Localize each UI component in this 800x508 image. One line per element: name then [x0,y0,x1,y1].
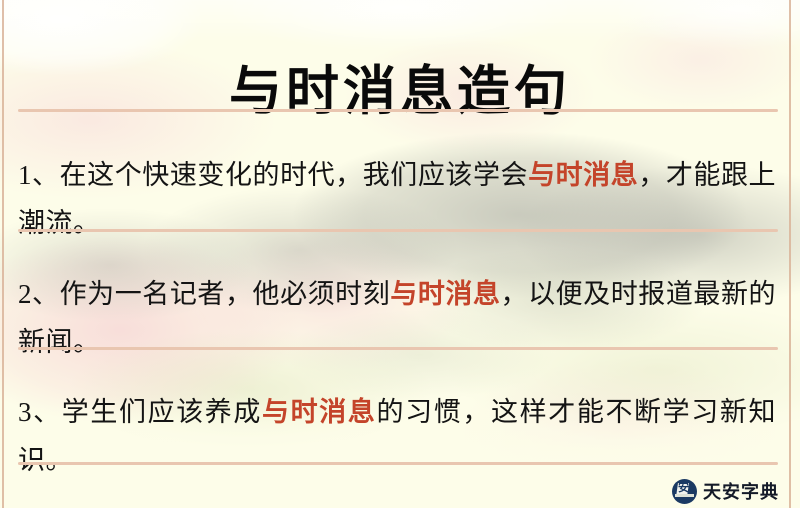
sentence-1-index: 1、 [18,160,60,190]
sentence-1-idiom: 与时消息 [528,160,638,190]
sentence-1-text-before: 在这个快速变化的时代，我们应该学会 [60,160,528,190]
example-sentence-2: 2、作为一名记者，他必须时刻与时消息，以便及时报道最新的新闻。 [18,270,776,366]
brand-watermark: 安 天安字典 [672,478,779,504]
sentence-2-idiom: 与时消息 [390,279,500,309]
sentence-3-idiom: 与时消息 [262,397,376,427]
sentence-3-text-before: 学生们应该养成 [62,397,262,427]
example-sentence-1: 1、在这个快速变化的时代，我们应该学会与时消息，才能跟上潮流。 [18,151,776,247]
dictionary-example-page: 与时消息造句 1、在这个快速变化的时代，我们应该学会与时消息，才能跟上潮流。 2… [0,0,800,508]
sentence-3-index: 3、 [18,397,62,427]
example-sentence-3: 3、学生们应该养成与时消息的习惯，这样才能不断学习新知识。 [18,388,776,484]
sentence-2-text-before: 作为一名记者，他必须时刻 [60,279,391,309]
brand-name: 天安字典 [703,478,779,504]
divider-rule-4 [18,462,778,465]
divider-rule-1 [18,109,778,112]
brand-emblem-icon: 安 [672,479,697,504]
divider-rule-2 [18,229,778,232]
brand-emblem-glyph: 安 [678,482,689,495]
sentence-2-index: 2、 [18,279,60,309]
page-title: 与时消息造句 [0,56,800,126]
divider-rule-3 [18,347,778,350]
